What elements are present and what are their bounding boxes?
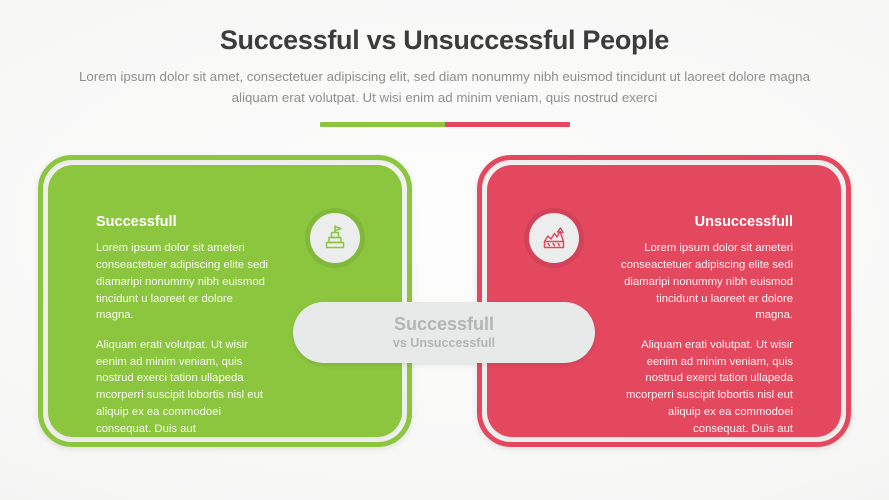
panel-unsuccessful-paragraph-1: Lorem ipsum dolor sit ameteri conseactet… bbox=[617, 240, 793, 324]
center-badge-subtitle: vs Unsuccessfull bbox=[393, 336, 495, 351]
divider-segment-red bbox=[445, 122, 570, 127]
panel-unsuccessful[interactable]: Unsuccessfull Lorem ipsum dolor sit amet… bbox=[477, 155, 851, 447]
panel-unsuccessful-text: Unsuccessfull Lorem ipsum dolor sit amet… bbox=[617, 214, 793, 437]
divider-segment-green bbox=[320, 122, 445, 127]
panel-successful-paragraph-2: Aliquam erati volutpat. Ut wisir eenim a… bbox=[96, 337, 272, 437]
header: Successful vs Unsuccessful People Lorem … bbox=[0, 0, 889, 127]
panel-successful[interactable]: Successfull Lorem ipsum dolor sit ameter… bbox=[38, 155, 412, 447]
icon-badge-unsuccessful bbox=[524, 208, 584, 268]
broken-pyramid-icon bbox=[529, 213, 579, 263]
panel-unsuccessful-paragraph-2: Aliquam erati volutpat. Ut wisir eenim a… bbox=[617, 337, 793, 437]
panel-successful-heading: Successfull bbox=[96, 214, 272, 231]
flag-podium-icon bbox=[310, 213, 360, 263]
panel-unsuccessful-body: Unsuccessfull Lorem ipsum dolor sit amet… bbox=[487, 165, 841, 437]
panel-successful-paragraph-1: Lorem ipsum dolor sit ameteri conseactet… bbox=[96, 240, 272, 324]
comparison-infographic-slide: Successful vs Unsuccessful People Lorem … bbox=[0, 0, 889, 500]
panel-successful-body: Successfull Lorem ipsum dolor sit ameter… bbox=[48, 165, 402, 437]
page-title: Successful vs Unsuccessful People bbox=[0, 0, 889, 56]
divider bbox=[320, 122, 570, 127]
page-subtitle: Lorem ipsum dolor sit amet, consectetuer… bbox=[59, 56, 831, 108]
center-comparison-badge[interactable]: Successfull vs Unsuccessfull bbox=[293, 302, 595, 363]
center-badge-title: Successfull bbox=[394, 314, 494, 334]
panel-successful-text: Successfull Lorem ipsum dolor sit ameter… bbox=[96, 214, 272, 437]
panel-unsuccessful-heading: Unsuccessfull bbox=[617, 214, 793, 231]
icon-badge-successful bbox=[305, 208, 365, 268]
